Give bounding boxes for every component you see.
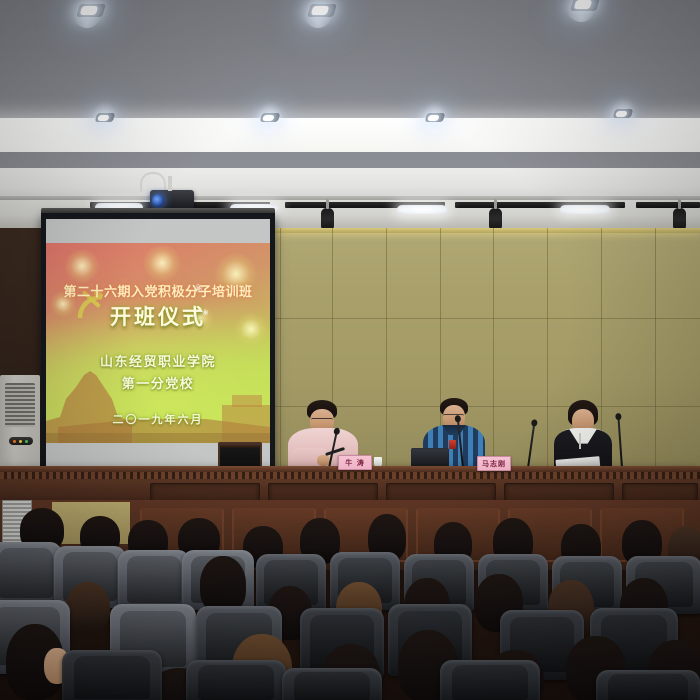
ac-led-indicator [13,440,16,443]
wall-seam [493,228,494,478]
slide-subtitle: 第一分党校 [46,373,270,392]
presentation-slide: ❀ ❀ 第二十六期入党积极分子培训班 开班仪式 山东经贸职业学院 第一分党校 二… [46,243,270,443]
wall-seam [280,228,281,478]
ac-control-panel [9,437,33,445]
glasses-icon [311,418,333,423]
audience-area [0,500,700,700]
seat-cushion [127,556,182,603]
name-card: 牛 涛 [338,455,372,470]
projection-screen: ❀ ❀ 第二十六期入党积极分子培训班 开班仪式 山东经贸职业学院 第一分党校 二… [41,213,275,475]
slide-heading: 第二十六期入党积极分子培训班 [46,281,270,300]
auditorium-seat [440,660,540,700]
speaker-right [548,400,618,472]
ceiling-spotlight [260,113,281,122]
ceiling-spotlight [76,4,106,17]
ceiling-strip-light [397,205,447,214]
seat-cushion [0,548,53,598]
auditorium-seat [186,660,286,700]
slide-title: 开班仪式 [46,301,270,331]
seat-cushion [294,672,370,700]
ac-led-indicator [19,440,22,443]
seat-cushion [74,656,150,700]
slide-letterbox-top [46,219,270,243]
ceiling-spotlight [307,4,337,17]
table-dentil-molding [0,472,700,479]
slide-date: 二〇一九年六月 [46,411,270,427]
wall-seam [386,228,387,478]
auditorium-seat [118,550,190,610]
projection-screen-surface: ❀ ❀ 第二十六期入党积极分子培训班 开班仪式 山东经贸职业学院 第一分党校 二… [46,219,270,469]
auditorium-seat [0,542,62,606]
ceiling-spotlight [95,113,116,122]
attendee-head [66,582,110,632]
slide-organization: 山东经贸职业学院 [46,351,270,370]
ceiling-spotlight [613,109,634,118]
ceiling-spotlight [425,113,446,122]
auditorium-photo: ❀ ❀ 第二十六期入党积极分子培训班 开班仪式 山东经贸职业学院 第一分党校 二… [0,0,700,700]
name-card: 马志刚 [477,456,511,471]
ceiling-strip-light [560,205,610,214]
firework-spark [64,249,100,283]
ac-led-indicator [25,440,28,443]
lanyard-badge-icon [449,440,456,449]
wall-seam [655,228,656,478]
auditorium-seat [62,650,162,700]
ceiling-spotlight [570,0,600,11]
lighting-track [636,202,700,208]
ac-grille [5,383,35,427]
seat-cushion [452,665,528,700]
auditorium-seat [596,670,700,700]
lanyard-icon [579,433,581,449]
ceiling [0,0,700,200]
auditorium-seat [282,668,382,700]
firework-spark [142,245,182,281]
projector-mount [140,172,166,192]
seat-cushion [608,674,687,700]
seat-cushion [198,665,274,700]
projector-lens-icon [152,194,164,207]
